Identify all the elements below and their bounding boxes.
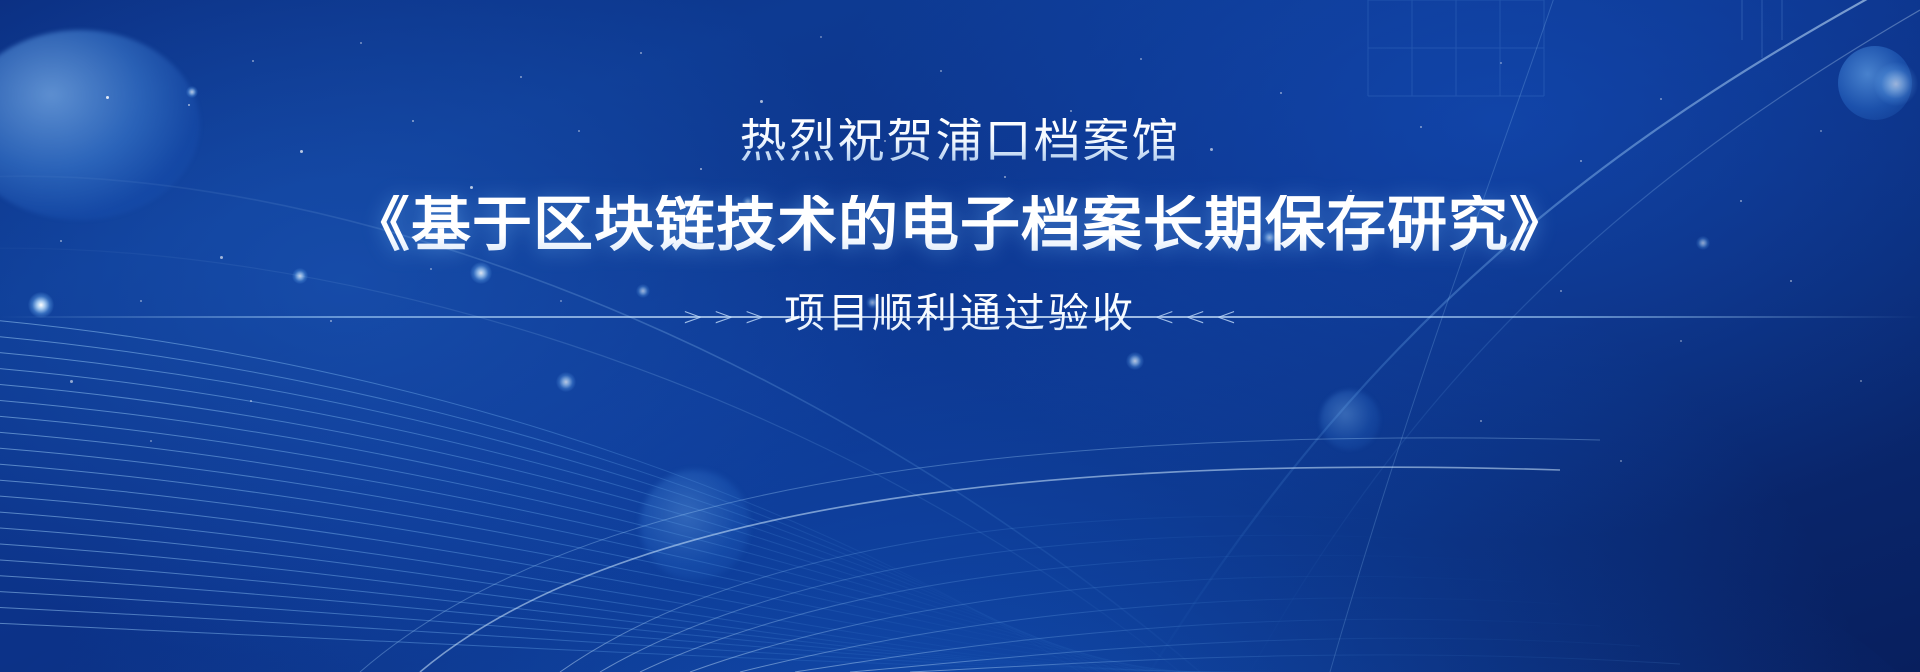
- headline-line-1: 热烈祝贺浦口档案馆: [740, 118, 1181, 171]
- chevrons-left-icon: < < <: [1154, 302, 1238, 331]
- glow-sphere-lower-left: [640, 470, 750, 580]
- headline-line-3-row: > > > 项目顺利通过验收 < < <: [682, 293, 1238, 340]
- headline-block: 热烈祝贺浦口档案馆 《基于区块链技术的电子档案长期保存研究》 > > > 项目顺…: [0, 118, 1920, 340]
- chevrons-right-icon: > > >: [682, 302, 766, 331]
- headline-line-2-title: 《基于区块链技术的电子档案长期保存研究》: [350, 195, 1570, 263]
- glow-sphere-mid-right: [1320, 390, 1380, 450]
- banner-stage: 热烈祝贺浦口档案馆 《基于区块链技术的电子档案长期保存研究》 > > > 项目顺…: [0, 0, 1920, 672]
- glow-sphere-top-right: [1838, 46, 1912, 120]
- headline-line-3: 项目顺利通过验收: [784, 293, 1136, 340]
